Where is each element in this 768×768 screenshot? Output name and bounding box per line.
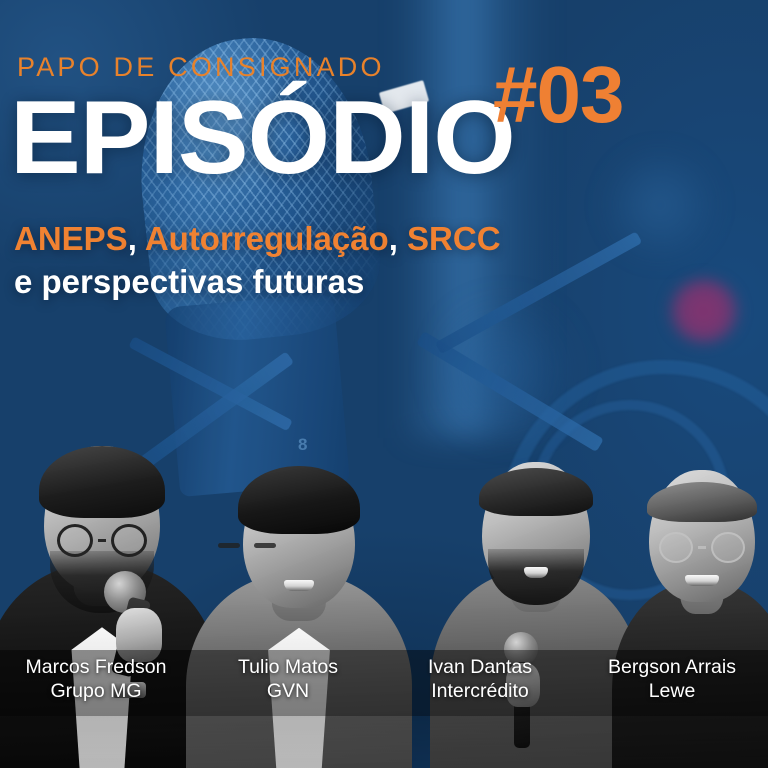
- topic-srcc: SRCC: [407, 220, 501, 257]
- subtitle-line-1: ANEPS, Autorregulação, SRCC: [14, 222, 501, 255]
- topic-separator-1: ,: [128, 220, 145, 257]
- bridge: [698, 546, 706, 549]
- topic-aneps: ANEPS: [14, 220, 128, 257]
- guest-credit-4: Bergson Arrais Lewe: [576, 655, 768, 703]
- guest-credit-3: Ivan Dantas Intercrédito: [384, 655, 576, 703]
- guest-name: Ivan Dantas: [384, 655, 576, 679]
- guest-company: Grupo MG: [0, 679, 192, 703]
- eyebrow-left: [218, 543, 240, 548]
- guest-name-list: Marcos Fredson Grupo MG Tulio Matos GVN …: [0, 655, 768, 703]
- hair: [479, 468, 593, 516]
- smile: [524, 567, 548, 578]
- smile: [685, 575, 719, 586]
- guest-name: Bergson Arrais: [576, 655, 768, 679]
- guest-company: GVN: [192, 679, 384, 703]
- guest-company: Intercrédito: [384, 679, 576, 703]
- bokeh-pink-icon: [668, 278, 740, 344]
- lens-left: [659, 532, 693, 563]
- eyebrow-right: [254, 543, 276, 548]
- hair: [647, 482, 757, 522]
- podcast-episode-poster: 8 PAPO DE CONSIGNADO EPISÓDIO #03 ANEPS,…: [0, 0, 768, 768]
- guest-name-band-fade: [0, 716, 768, 768]
- smile: [284, 580, 314, 591]
- subtitle-line-2: e perspectivas futuras: [14, 265, 364, 298]
- hair: [39, 446, 165, 518]
- topic-separator-2: ,: [389, 220, 407, 257]
- hair: [238, 466, 360, 534]
- lens-right: [711, 532, 745, 563]
- guest-credit-2: Tulio Matos GVN: [192, 655, 384, 703]
- guest-name: Marcos Fredson: [0, 655, 192, 679]
- guest-name: Tulio Matos: [192, 655, 384, 679]
- guest-company: Lewe: [576, 679, 768, 703]
- topic-autorregulacao: Autorregulação: [145, 220, 389, 257]
- episode-number: #03: [493, 55, 623, 135]
- show-name-kicker: PAPO DE CONSIGNADO: [17, 52, 385, 83]
- guest-credit-1: Marcos Fredson Grupo MG: [0, 655, 192, 703]
- page-title: EPISÓDIO: [10, 86, 515, 190]
- bridge: [98, 539, 106, 542]
- eyeglasses-icon: [659, 532, 745, 563]
